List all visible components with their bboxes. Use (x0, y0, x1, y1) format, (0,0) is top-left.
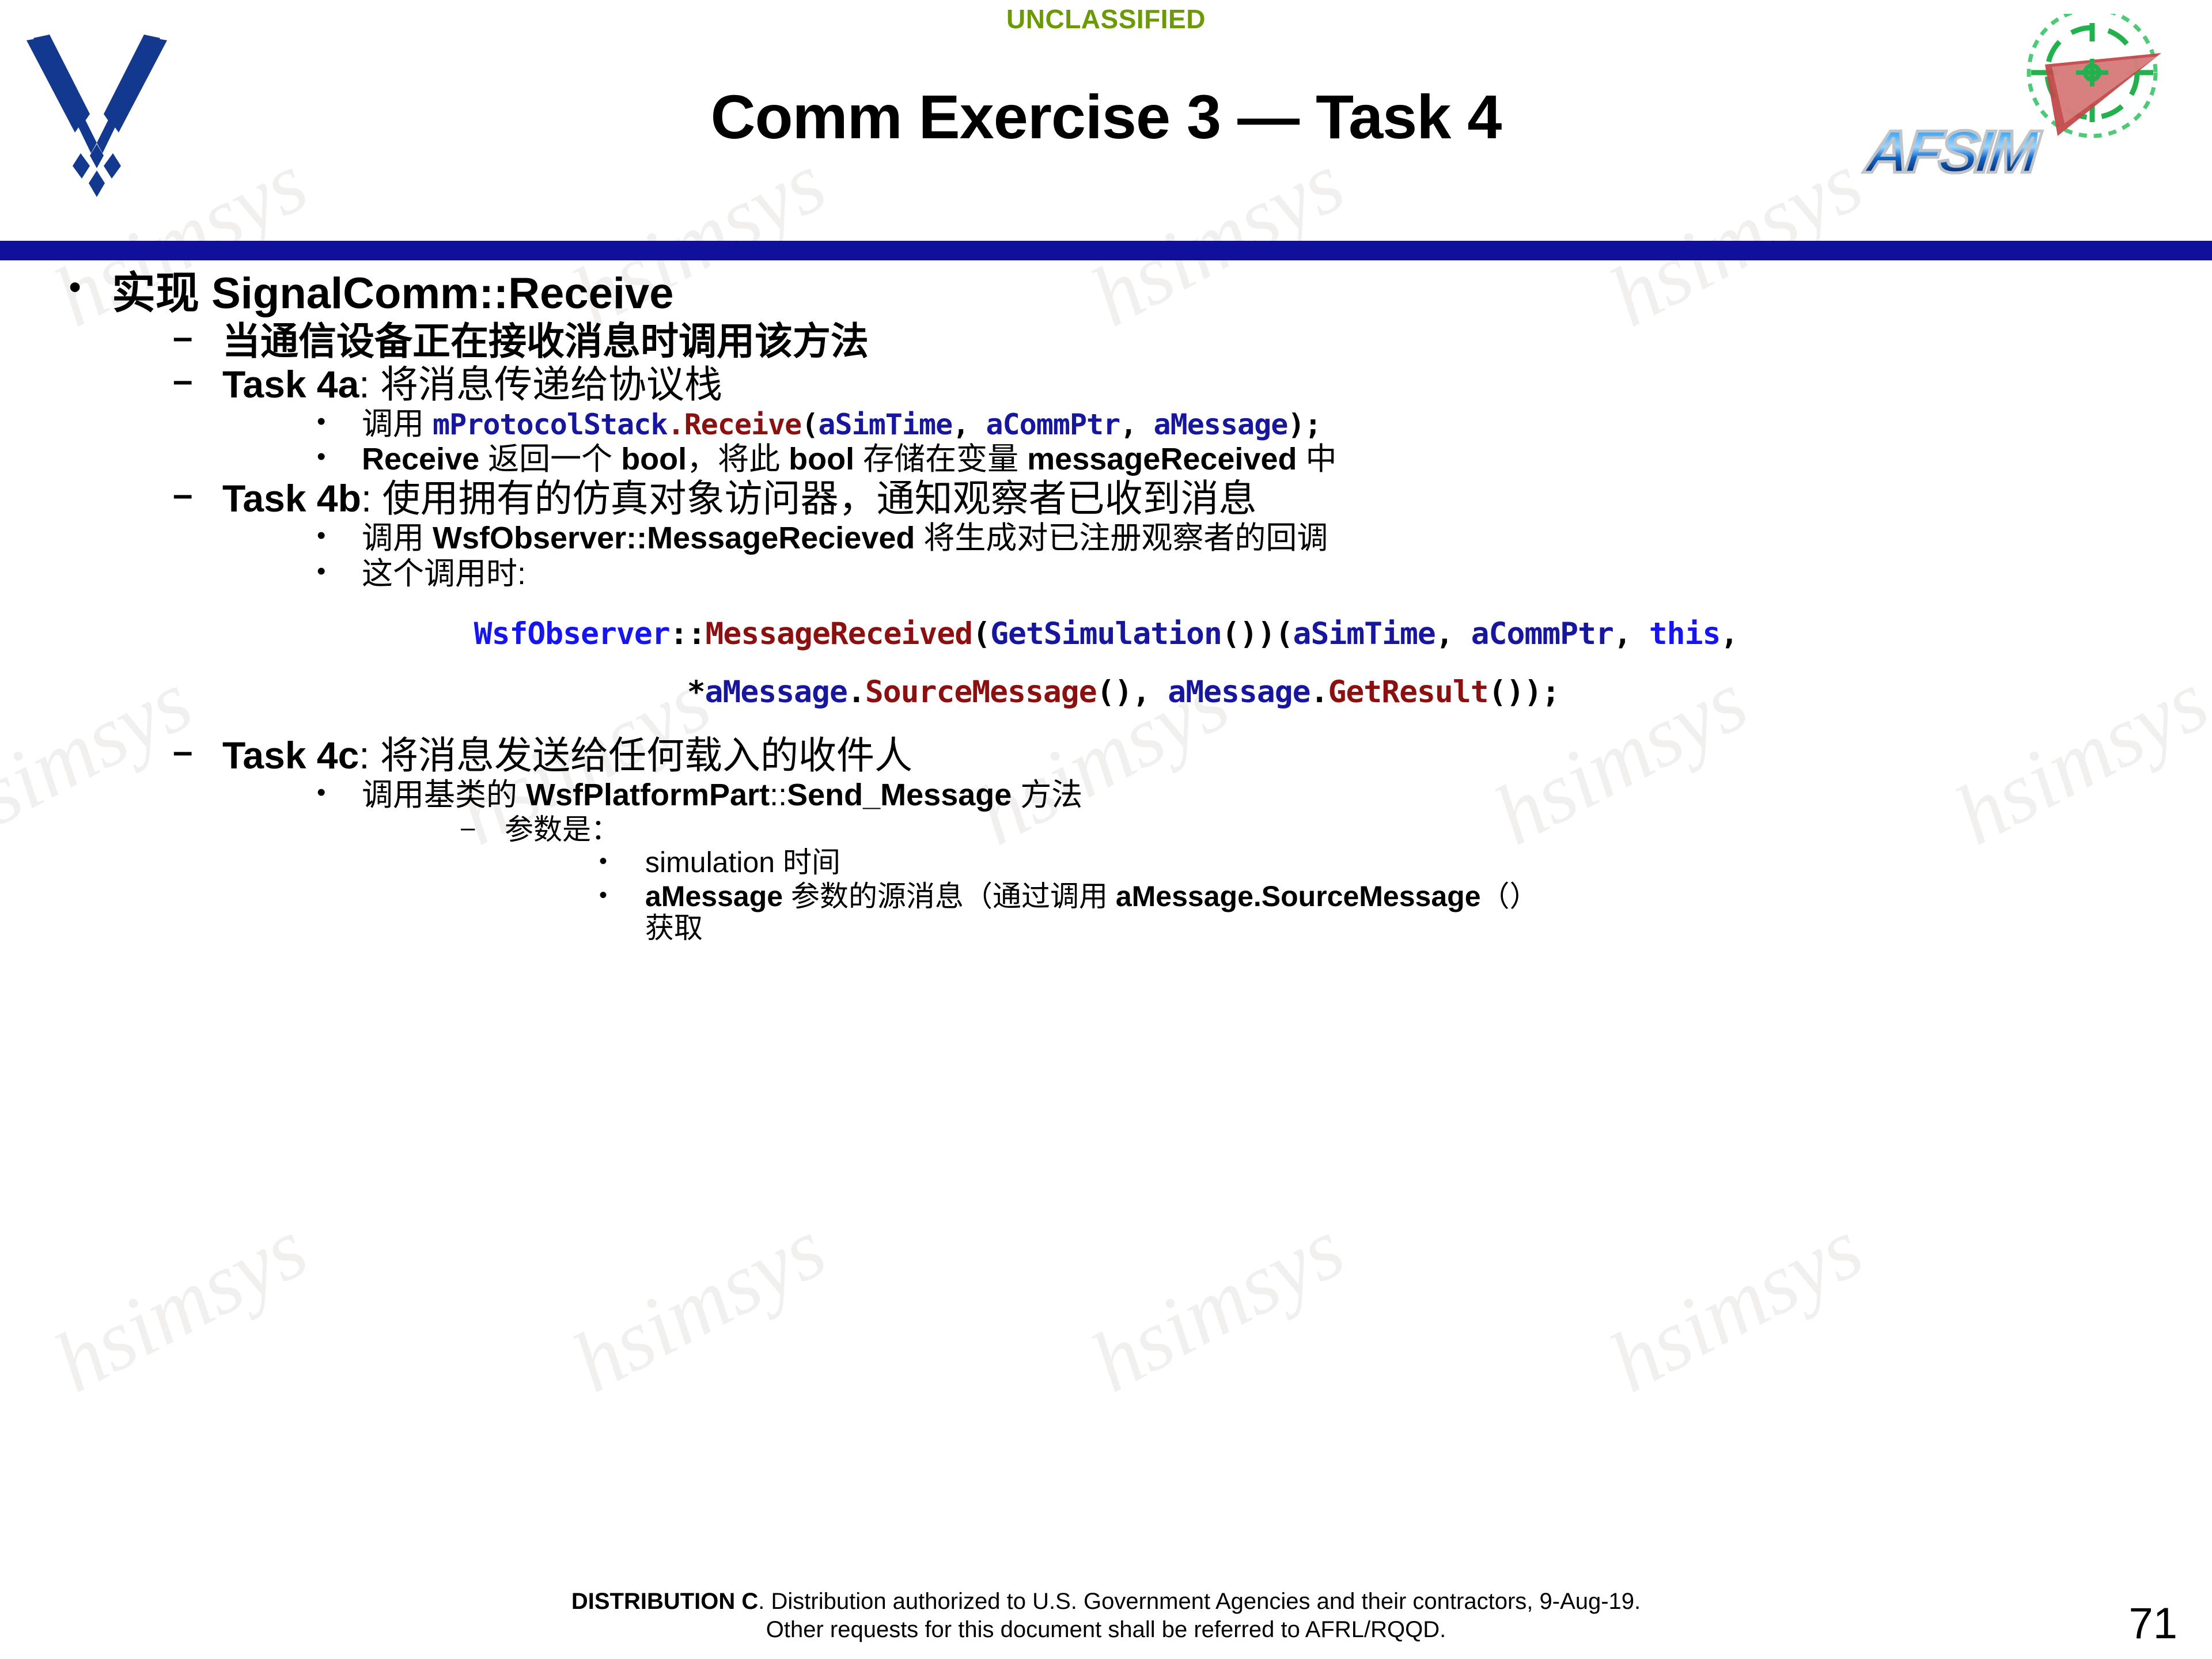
bullet-text: Receive 返回一个 bool，将此 bool 存储在变量 messageR… (362, 442, 2212, 476)
bullet-marker-dot: • (317, 407, 362, 437)
code-identifier: aMessage (705, 675, 847, 710)
code-arg: aSimTime (818, 408, 952, 441)
text-part: 参数的源消息（通过调用 (783, 880, 1116, 912)
code-dot: . (1310, 675, 1328, 710)
amessage-token: aMessage (645, 880, 783, 912)
text-part: 调用基类的 (362, 778, 526, 812)
bullet-text: Task 4c: 将消息发送给任何载入的收件人 (222, 735, 2212, 776)
bullet-task-4a: – Task 4a: 将消息传递给协议栈 (0, 364, 2212, 405)
slide-footer: DISTRIBUTION C. Distribution authorized … (0, 1588, 2212, 1644)
bullet-task-4c: – Task 4c: 将消息发送给任何载入的收件人 (0, 735, 2212, 776)
bullet-marker-dot: • (317, 778, 362, 808)
call-prefix: 调用 (362, 407, 433, 441)
code-scope-op: :: (670, 616, 706, 652)
bullet-text: aMessage 参数的源消息（通过调用 aMessage.SourceMess… (645, 881, 2212, 944)
distribution-text: . Distribution authorized to U.S. Govern… (758, 1589, 1641, 1614)
watermark-text: hsimsys (1594, 1199, 1878, 1412)
bullet-task-4b: – Task 4b: 使用拥有的仿真对象访问器，通知观察者已收到消息 (0, 478, 2212, 519)
task-4a-label: Task 4a (222, 363, 359, 406)
variable-token: messageReceived (1027, 442, 1297, 476)
code-method: MessageReceived (706, 616, 973, 652)
code-block-line-1: WsfObserver::MessageReceived(GetSimulati… (0, 616, 2212, 652)
code-method: Receive (684, 408, 802, 441)
bullet-amessage-source: • aMessage 参数的源消息（通过调用 aMessage.SourceMe… (0, 881, 2212, 944)
text-part: 获取 (645, 912, 703, 944)
code-paren: (), (1097, 675, 1168, 710)
text-part: 调用 (362, 521, 433, 555)
classification-banner: UNCLASSIFIED (0, 3, 2212, 35)
distribution-line-2: Other requests for this document shall b… (184, 1616, 2028, 1644)
scope-op: :: (770, 778, 787, 812)
bullet-implement-signalcomm: • 实现 SignalComm::Receive (0, 271, 2212, 317)
receive-token: Receive (362, 442, 479, 476)
bool-token: bool (621, 442, 687, 476)
slide-header: Comm Exercise 3 — Task 4 (0, 0, 2212, 260)
bullet-text: simulation 时间 (645, 847, 2212, 878)
wsfobserver-token: WsfObserver::MessageRecieved (433, 521, 915, 555)
code-block-line-2: *aMessage.SourceMessage(), aMessage.GetR… (0, 675, 2212, 710)
code-arg: aCommPtr (1471, 616, 1613, 652)
bullet-this-call: • 这个调用时: (0, 557, 2212, 591)
bullet-marker-dot: • (317, 557, 362, 586)
bullet-marker-dash: – (173, 735, 222, 769)
code-identifier: aMessage (1168, 675, 1310, 710)
code-paren: ( (801, 408, 818, 441)
code-comma: , (1435, 616, 1471, 652)
bullet-text: 参数是： (505, 814, 2212, 846)
bullet-text: Task 4b: 使用拥有的仿真对象访问器，通知观察者已收到消息 (222, 478, 2212, 519)
afsim-logo: AFSIM (1862, 14, 2196, 204)
bullet-marker-dot: • (599, 881, 645, 910)
bullet-simulation-time: • simulation 时间 (0, 847, 2212, 878)
bullet-marker-dot: • (599, 847, 645, 876)
header-divider (0, 241, 2212, 260)
code-comma: , (1720, 616, 1738, 652)
bullet-text: 这个调用时: (362, 557, 2212, 591)
code-paren: ())( (1222, 616, 1293, 652)
task-4b-label: Task 4b (222, 477, 361, 520)
code-call: GetSimulation (990, 616, 1222, 652)
bullet-text: 实现 SignalComm::Receive (112, 271, 2212, 317)
bullet-call-protocolstack-receive: • 调用 mProtocolStack.Receive(aSimTime, aC… (0, 407, 2212, 441)
code-paren: ( (972, 616, 990, 652)
code-comma: , (1613, 616, 1649, 652)
bullet-call-wsfobserver: • 调用 WsfObserver::MessageRecieved 将生成对已注… (0, 521, 2212, 555)
task-4b-text: 使用拥有的仿真对象访问器，通知观察者已收到消息 (382, 477, 1257, 520)
code-deref: * (687, 675, 705, 710)
simulation-token: simulation (645, 846, 775, 878)
task-4a-text: 将消息传递给协议栈 (380, 363, 722, 406)
watermark-text: hsimsys (557, 1199, 841, 1412)
bullet-marker-dash: – (461, 814, 505, 842)
distribution-label: DISTRIBUTION C (571, 1589, 758, 1614)
code-arg: aCommPtr (986, 408, 1120, 441)
bullet-marker-dash: – (173, 364, 222, 398)
task-4b-sep: : (361, 477, 382, 520)
afsim-wordmark: AFSIM (1863, 118, 2039, 187)
task-4c-sep: : (359, 734, 380, 777)
bullet-marker-dot: • (317, 521, 362, 551)
code-arg: aSimTime (1293, 616, 1435, 652)
code-close: ); (1287, 408, 1321, 441)
code-keyword-this: this (1649, 616, 1721, 652)
text-part: 中 (1297, 442, 1336, 476)
text-part: ，将此 (687, 442, 789, 476)
watermark-text: hsimsys (39, 1199, 323, 1412)
wsfplatformpart-token: WsfPlatformPart (526, 778, 770, 812)
bullet-receive-returns-bool: • Receive 返回一个 bool，将此 bool 存储在变量 messag… (0, 442, 2212, 476)
distribution-statement: DISTRIBUTION C. Distribution authorized … (184, 1588, 2028, 1644)
code-close: ()); (1488, 675, 1560, 710)
bullet-marker-dot: • (69, 271, 112, 304)
code-identifier: mProtocolStack (433, 408, 667, 441)
bullet-marker-dash: – (173, 478, 222, 512)
bullet-marker-dot: • (317, 442, 362, 472)
amessage-sourcemessage-token: aMessage.SourceMessage (1116, 880, 1481, 912)
bullet-call-send-message: • 调用基类的 WsfPlatformPart::Send_Message 方法 (0, 778, 2212, 812)
text-part: 方法 (1012, 778, 1082, 812)
slide-body: • 实现 SignalComm::Receive – 当通信设备正在接收消息时调… (0, 271, 2212, 946)
bullet-marker-dash: – (173, 321, 222, 355)
watermark-text: hsimsys (1075, 1199, 1359, 1412)
bullet-called-when: – 当通信设备正在接收消息时调用该方法 (0, 321, 2212, 362)
task-4c-text: 将消息发送给任何载入的收件人 (380, 734, 912, 777)
code-class: WsfObserver (474, 616, 670, 652)
content-spacer (0, 710, 2212, 735)
code-comma: , (1120, 408, 1153, 441)
bullet-text: 调用 WsfObserver::MessageRecieved 将生成对已注册观… (362, 521, 2212, 555)
bullet-parameters-are: – 参数是： (0, 814, 2212, 846)
code-dot: . (847, 675, 865, 710)
text-part: 返回一个 (479, 442, 621, 476)
bullet-text: 调用 mProtocolStack.Receive(aSimTime, aCom… (362, 407, 2212, 441)
bool-token: bool (789, 442, 854, 476)
task-4a-sep: : (359, 363, 380, 406)
code-method: SourceMessage (865, 675, 1097, 710)
distribution-line-1: DISTRIBUTION C. Distribution authorized … (184, 1588, 2028, 1616)
task-4c-label: Task 4c (222, 734, 359, 777)
text-part: （） (1481, 880, 1539, 912)
send-message-token: Send_Message (787, 778, 1012, 812)
aircraft-glyph (2045, 53, 2161, 136)
page-number: 71 (2128, 1599, 2177, 1649)
bullet-text: Task 4a: 将消息传递给协议栈 (222, 364, 2212, 405)
bullet-text: 当通信设备正在接收消息时调用该方法 (222, 321, 2212, 362)
text-part: 存储在变量 (854, 442, 1027, 476)
code-comma: , (952, 408, 986, 441)
code-method: GetResult (1328, 675, 1488, 710)
code-arg: aMessage (1153, 408, 1287, 441)
bullet-text: 调用基类的 WsfPlatformPart::Send_Message 方法 (362, 778, 2212, 812)
text-part: 将生成对已注册观察者的回调 (915, 521, 1328, 555)
code-dot: . (667, 408, 684, 441)
text-part: 时间 (775, 846, 840, 878)
